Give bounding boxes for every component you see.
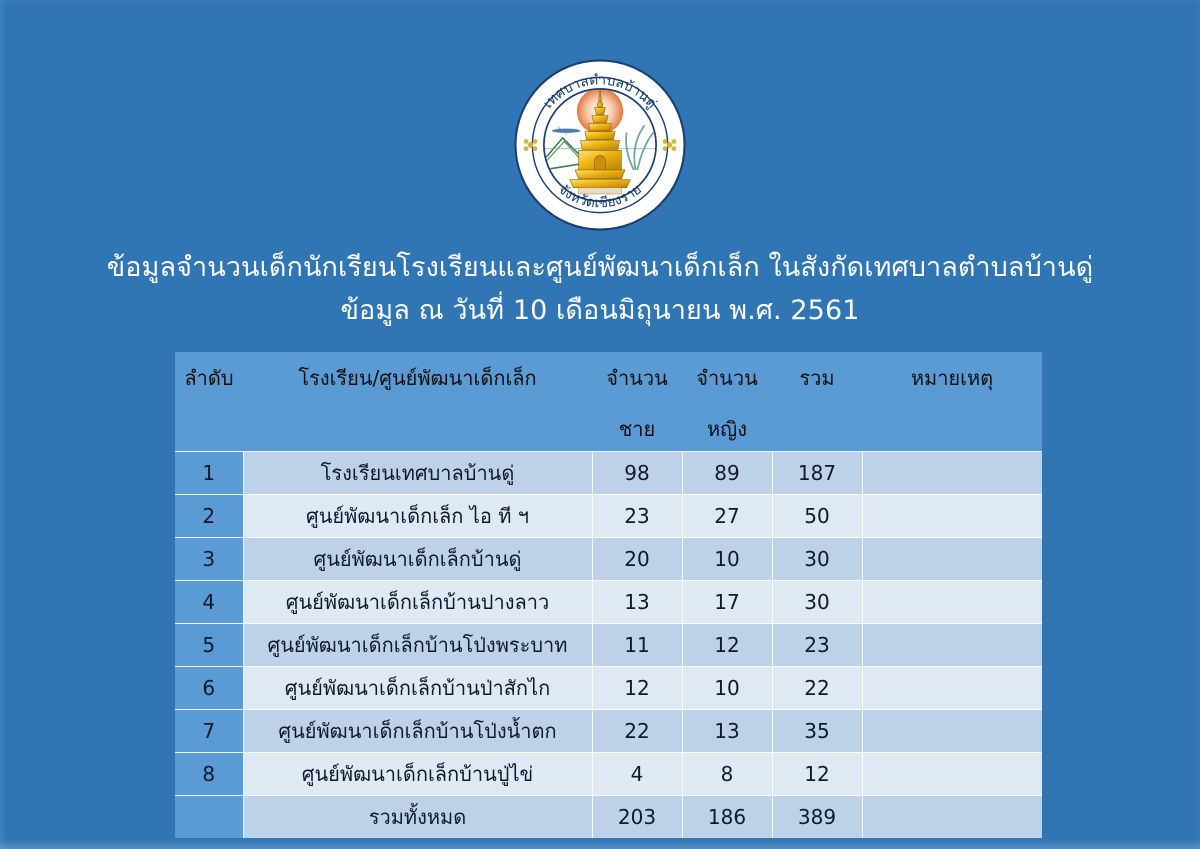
page-subtitle: ข้อมูล ณ วันที่ 10 เดือนมิถุนายน พ.ศ. 25… bbox=[0, 289, 1200, 332]
cell-female: 10 bbox=[682, 667, 772, 710]
cell-female: 8 bbox=[682, 753, 772, 796]
cell-note bbox=[862, 667, 1042, 710]
cell-name: ศูนย์พัฒนาเด็กเล็กบ้านโป่งน้ำตก bbox=[243, 710, 592, 753]
cell-total: 35 bbox=[772, 710, 862, 753]
cell-note bbox=[862, 624, 1042, 667]
cell-male: 20 bbox=[592, 538, 682, 581]
cell-female: 12 bbox=[682, 624, 772, 667]
cell-male: 13 bbox=[592, 581, 682, 624]
page-title: ข้อมูลจำนวนเด็กนักเรียนโรงเรียนและศูนย์พ… bbox=[0, 246, 1200, 289]
column-header-male-label: จำนวน bbox=[606, 366, 668, 390]
cell-female: 13 bbox=[682, 710, 772, 753]
cell-name: ศูนย์พัฒนาเด็กเล็ก ไอ ที ฯ bbox=[243, 495, 592, 538]
table-row: 7 ศูนย์พัฒนาเด็กเล็กบ้านโป่งน้ำตก 22 13 … bbox=[175, 710, 1042, 753]
cell-total: 12 bbox=[772, 753, 862, 796]
column-header-female: จำนวน หญิง bbox=[682, 352, 772, 452]
cell-male: 12 bbox=[592, 667, 682, 710]
student-count-table: ลำดับ โรงเรียน/ศูนย์พัฒนาเด็กเล็ก จำนวน … bbox=[175, 352, 1042, 838]
cell-no: 2 bbox=[175, 495, 243, 538]
cell-total: 30 bbox=[772, 538, 862, 581]
total-cell-female: 186 bbox=[682, 796, 772, 839]
cell-no: 4 bbox=[175, 581, 243, 624]
cell-name: ศูนย์พัฒนาเด็กเล็กบ้านปางลาว bbox=[243, 581, 592, 624]
cell-total: 23 bbox=[772, 624, 862, 667]
table-total-row: รวมทั้งหมด 203 186 389 bbox=[175, 796, 1042, 839]
logo-container: เทศบาลตำบลบ้านดู่ จังหวัดเชียงราย bbox=[0, 56, 1200, 234]
municipality-seal-icon: เทศบาลตำบลบ้านดู่ จังหวัดเชียงราย bbox=[511, 56, 689, 234]
column-header-name-label: โรงเรียน/ศูนย์พัฒนาเด็กเล็ก bbox=[298, 366, 536, 390]
total-cell-note bbox=[862, 796, 1042, 839]
cell-note bbox=[862, 452, 1042, 495]
cell-name: ศูนย์พัฒนาเด็กเล็กบ้านปู่ไข่ bbox=[243, 753, 592, 796]
column-header-female-label: จำนวน bbox=[696, 366, 758, 390]
column-header-male-sub: ชาย bbox=[596, 413, 678, 445]
cell-note bbox=[862, 753, 1042, 796]
table-row: 3 ศูนย์พัฒนาเด็กเล็กบ้านดู่ 20 10 30 bbox=[175, 538, 1042, 581]
cell-no: 5 bbox=[175, 624, 243, 667]
cell-total: 22 bbox=[772, 667, 862, 710]
cell-no: 7 bbox=[175, 710, 243, 753]
column-header-male: จำนวน ชาย bbox=[592, 352, 682, 452]
cell-female: 10 bbox=[682, 538, 772, 581]
total-cell-no bbox=[175, 796, 243, 839]
column-header-female-sub: หญิง bbox=[686, 413, 768, 445]
table-row: 5 ศูนย์พัฒนาเด็กเล็กบ้านโป่งพระบาท 11 12… bbox=[175, 624, 1042, 667]
table-row: 4 ศูนย์พัฒนาเด็กเล็กบ้านปางลาว 13 17 30 bbox=[175, 581, 1042, 624]
cell-no: 3 bbox=[175, 538, 243, 581]
column-header-name: โรงเรียน/ศูนย์พัฒนาเด็กเล็ก bbox=[243, 352, 592, 452]
cell-male: 11 bbox=[592, 624, 682, 667]
cell-note bbox=[862, 495, 1042, 538]
total-cell-male: 203 bbox=[592, 796, 682, 839]
page-bottom-band bbox=[0, 839, 1200, 849]
table-row: 8 ศูนย์พัฒนาเด็กเล็กบ้านปู่ไข่ 4 8 12 bbox=[175, 753, 1042, 796]
cell-note bbox=[862, 710, 1042, 753]
cell-no: 8 bbox=[175, 753, 243, 796]
cell-no: 6 bbox=[175, 667, 243, 710]
document-title-block: ข้อมูลจำนวนเด็กนักเรียนโรงเรียนและศูนย์พ… bbox=[0, 246, 1200, 332]
column-header-no: ลำดับ bbox=[175, 352, 243, 452]
cell-male: 22 bbox=[592, 710, 682, 753]
table-row: 2 ศูนย์พัฒนาเด็กเล็ก ไอ ที ฯ 23 27 50 bbox=[175, 495, 1042, 538]
cell-note bbox=[862, 538, 1042, 581]
cell-name: ศูนย์พัฒนาเด็กเล็กบ้านป่าสักไก bbox=[243, 667, 592, 710]
cell-male: 23 bbox=[592, 495, 682, 538]
cell-no: 1 bbox=[175, 452, 243, 495]
cell-name: ศูนย์พัฒนาเด็กเล็กบ้านโป่งพระบาท bbox=[243, 624, 592, 667]
table-header-row: ลำดับ โรงเรียน/ศูนย์พัฒนาเด็กเล็ก จำนวน … bbox=[175, 352, 1042, 452]
column-header-total: รวม bbox=[772, 352, 862, 452]
cell-total: 50 bbox=[772, 495, 862, 538]
table-body: 1 โรงเรียนเทศบาลบ้านดู่ 98 89 187 2 ศูนย… bbox=[175, 452, 1042, 839]
column-header-note-label: หมายเหตุ bbox=[911, 366, 993, 390]
table-row: 1 โรงเรียนเทศบาลบ้านดู่ 98 89 187 bbox=[175, 452, 1042, 495]
cell-name: โรงเรียนเทศบาลบ้านดู่ bbox=[243, 452, 592, 495]
cell-total: 30 bbox=[772, 581, 862, 624]
total-cell-total: 389 bbox=[772, 796, 862, 839]
cell-male: 4 bbox=[592, 753, 682, 796]
cell-female: 27 bbox=[682, 495, 772, 538]
cell-total: 187 bbox=[772, 452, 862, 495]
total-cell-label: รวมทั้งหมด bbox=[243, 796, 592, 839]
cell-female: 17 bbox=[682, 581, 772, 624]
table-row: 6 ศูนย์พัฒนาเด็กเล็กบ้านป่าสักไก 12 10 2… bbox=[175, 667, 1042, 710]
data-table-container: ลำดับ โรงเรียน/ศูนย์พัฒนาเด็กเล็ก จำนวน … bbox=[175, 352, 1042, 838]
cell-name: ศูนย์พัฒนาเด็กเล็กบ้านดู่ bbox=[243, 538, 592, 581]
column-header-note: หมายเหตุ bbox=[862, 352, 1042, 452]
column-header-total-label: รวม bbox=[799, 366, 834, 390]
cell-note bbox=[862, 581, 1042, 624]
column-header-no-label: ลำดับ bbox=[184, 366, 233, 390]
cell-female: 89 bbox=[682, 452, 772, 495]
cell-male: 98 bbox=[592, 452, 682, 495]
